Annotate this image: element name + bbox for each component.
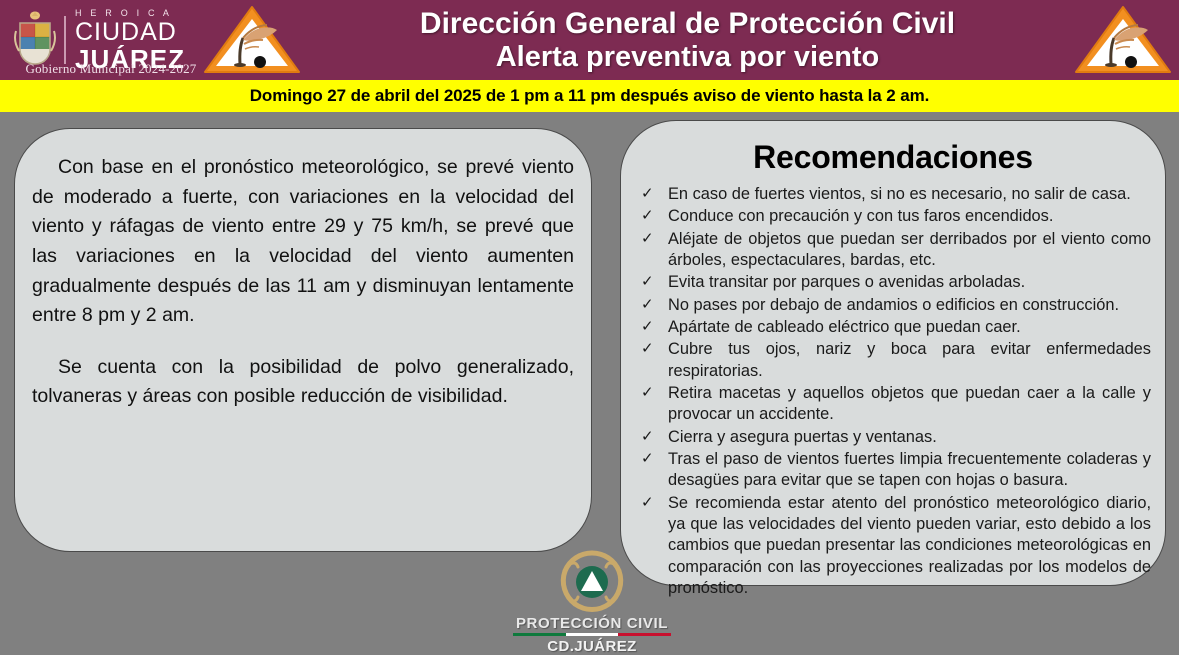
list-item: ✓Aléjate de objetos que puedan ser derri…: [635, 229, 1151, 272]
list-item-label: Se recomienda estar atento del pronóstic…: [668, 494, 1151, 597]
list-item: ✓Cubre tus ojos, nariz y boca para evita…: [635, 339, 1151, 382]
brand-divider: [64, 16, 66, 64]
check-icon: ✓: [641, 427, 654, 447]
mexican-flag-rule: [513, 633, 671, 636]
check-icon: ✓: [641, 383, 654, 403]
check-icon: ✓: [641, 493, 654, 513]
list-item: ✓Evita transitar por parques o avenidas …: [635, 272, 1151, 293]
recommendations-list: ✓En caso de fuertes vientos, si no es ne…: [635, 184, 1151, 599]
list-item: ✓Tras el paso de vientos fuertes limpia …: [635, 449, 1151, 492]
brand-heroica: H E R O I C A: [75, 9, 185, 18]
wind-warning-triangle-icon-right: [1067, 3, 1179, 77]
check-icon: ✓: [641, 184, 654, 204]
check-icon: ✓: [641, 272, 654, 292]
list-item-label: Apártate de cableado eléctrico que pueda…: [668, 318, 1021, 336]
check-icon: ✓: [641, 339, 654, 359]
forecast-text: Con base en el pronóstico meteorológico,…: [32, 153, 574, 412]
recommendations-title: Recomendaciones: [635, 139, 1151, 176]
list-item: ✓No pases por debajo de andamios o edifi…: [635, 295, 1151, 316]
check-icon: ✓: [641, 206, 654, 226]
alert-date-banner: Domingo 27 de abril del 2025 de 1 pm a 1…: [0, 80, 1179, 112]
list-item-label: Aléjate de objetos que puedan ser derrib…: [668, 230, 1151, 269]
page-header: H E R O I C A CIUDAD JUÁREZ Gobierno Mun…: [0, 0, 1179, 80]
list-item: ✓Apártate de cableado eléctrico que pued…: [635, 317, 1151, 338]
list-item-label: Conduce con precaución y con tus faros e…: [668, 207, 1053, 225]
list-item: ✓En caso de fuertes vientos, si no es ne…: [635, 184, 1151, 205]
list-item-label: Retira macetas y aquellos objetos que pu…: [668, 384, 1151, 423]
list-item-label: Cierra y asegura puertas y ventanas.: [668, 428, 937, 446]
check-icon: ✓: [641, 317, 654, 337]
list-item: ✓Cierra y asegura puertas y ventanas.: [635, 427, 1151, 448]
header-title-block: Dirección General de Protección Civil Al…: [308, 7, 1067, 73]
proteccion-civil-logo-icon: [556, 548, 628, 616]
list-item: ✓Retira macetas y aquellos objetos que p…: [635, 383, 1151, 426]
alert-date-text: Domingo 27 de abril del 2025 de 1 pm a 1…: [250, 86, 930, 106]
list-item-label: Tras el paso de vientos fuertes limpia f…: [668, 450, 1151, 489]
check-icon: ✓: [641, 295, 654, 315]
list-item: ✓Conduce con precaución y con tus faros …: [635, 206, 1151, 227]
list-item-label: En caso de fuertes vientos, si no es nec…: [668, 185, 1131, 203]
proteccion-civil-name: PROTECCIÓN CIVIL: [492, 615, 692, 632]
list-item-label: Cubre tus ojos, nariz y boca para evitar…: [668, 340, 1151, 379]
list-item-label: Evita transitar por parques o avenidas a…: [668, 273, 1025, 291]
forecast-paragraph-2: Se cuenta con la posibilidad de polvo ge…: [32, 353, 574, 412]
forecast-panel: Con base en el pronóstico meteorológico,…: [14, 128, 592, 552]
forecast-paragraph-1: Con base en el pronóstico meteorológico,…: [32, 153, 574, 331]
page-subtitle: Alerta preventiva por viento: [308, 41, 1067, 73]
recommendations-panel: Recomendaciones ✓En caso de fuertes vien…: [620, 120, 1166, 586]
brand-ciudad: CIUDAD: [75, 20, 185, 45]
proteccion-civil-footer: PROTECCIÓN CIVIL CD.JUÁREZ: [492, 548, 692, 654]
check-icon: ✓: [641, 229, 654, 249]
list-item: ✓Se recomienda estar atento del pronósti…: [635, 493, 1151, 600]
page-title: Dirección General de Protección Civil: [308, 7, 1067, 41]
proteccion-civil-city: CD.JUÁREZ: [492, 638, 692, 655]
brand-gobierno-municipal: Gobierno Municipal 2024-2027: [16, 61, 206, 77]
wind-warning-triangle-icon-left: [196, 3, 308, 77]
check-icon: ✓: [641, 449, 654, 469]
list-item-label: No pases por debajo de andamios o edific…: [668, 296, 1119, 314]
